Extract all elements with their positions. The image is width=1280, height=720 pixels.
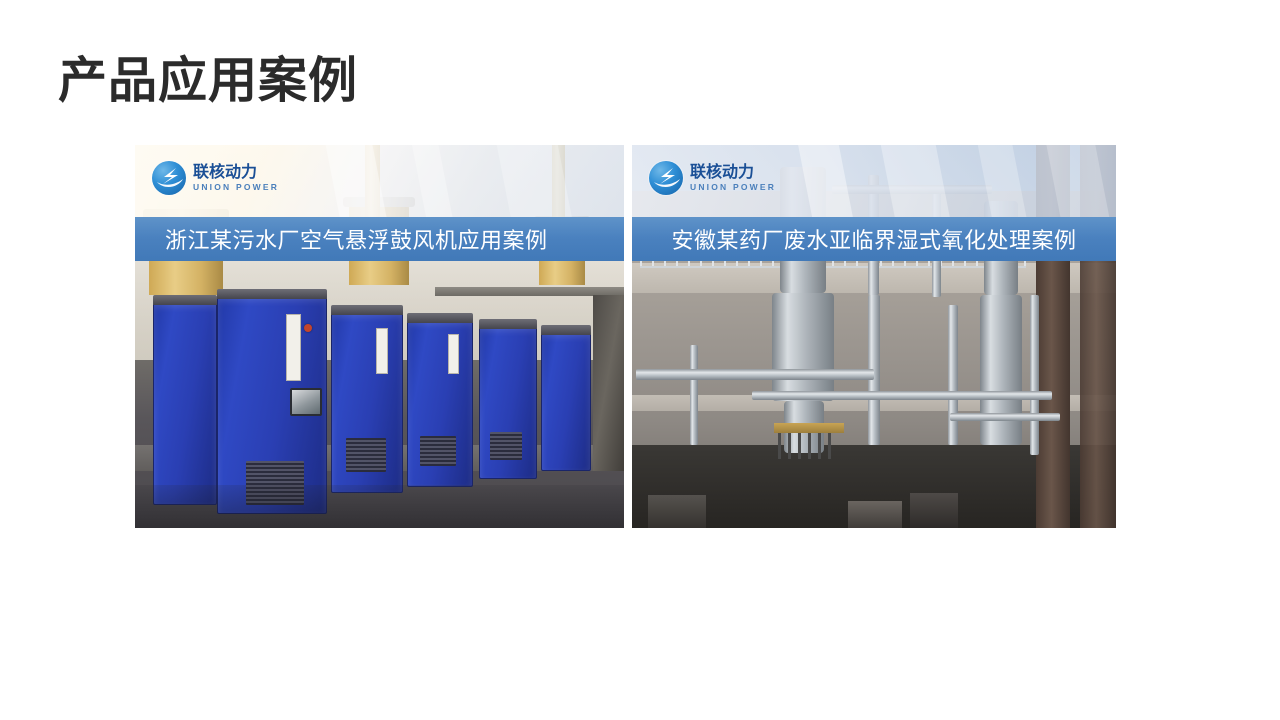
case-caption-bar-left: 浙江某污水厂空气悬浮鼓风机应用案例 (135, 217, 624, 261)
brand-name-cn: 联核动力 (690, 164, 776, 180)
brand-name-en: UNION POWER (690, 183, 776, 192)
slide-bottom-mask (0, 672, 1280, 720)
case-card-right: 联核动力 UNION POWER 安徽某药厂废水亚临界湿式氧化处理案例 (632, 145, 1116, 528)
page-title: 产品应用案例 (58, 55, 358, 109)
case-caption-left: 浙江某污水厂空气悬浮鼓风机应用案例 (165, 223, 548, 255)
brand-name-en: UNION POWER (193, 183, 279, 192)
brand-logo-right: 联核动力 UNION POWER (649, 161, 776, 195)
case-card-left: 联核动力 UNION POWER 浙江某污水厂空气悬浮鼓风机应用案例 (135, 145, 624, 528)
case-caption-bar-right: 安徽某药厂废水亚临界湿式氧化处理案例 (632, 217, 1116, 261)
slide-root: 产品应用案例 (0, 0, 1280, 720)
union-power-logo-icon (152, 161, 186, 195)
union-power-logo-icon (649, 161, 683, 195)
case-caption-right: 安徽某药厂废水亚临界湿式氧化处理案例 (671, 223, 1076, 255)
brand-logo-left: 联核动力 UNION POWER (152, 161, 279, 195)
brand-name-cn: 联核动力 (193, 164, 279, 180)
case-panel-right: 联核动力 UNION POWER 安徽某药厂废水亚临界湿式氧化处理案例 处理量 … (632, 145, 1116, 528)
case-panel-left: 联核动力 UNION POWER 浙江某污水厂空气悬浮鼓风机应用案例 处理量 5… (135, 145, 624, 528)
